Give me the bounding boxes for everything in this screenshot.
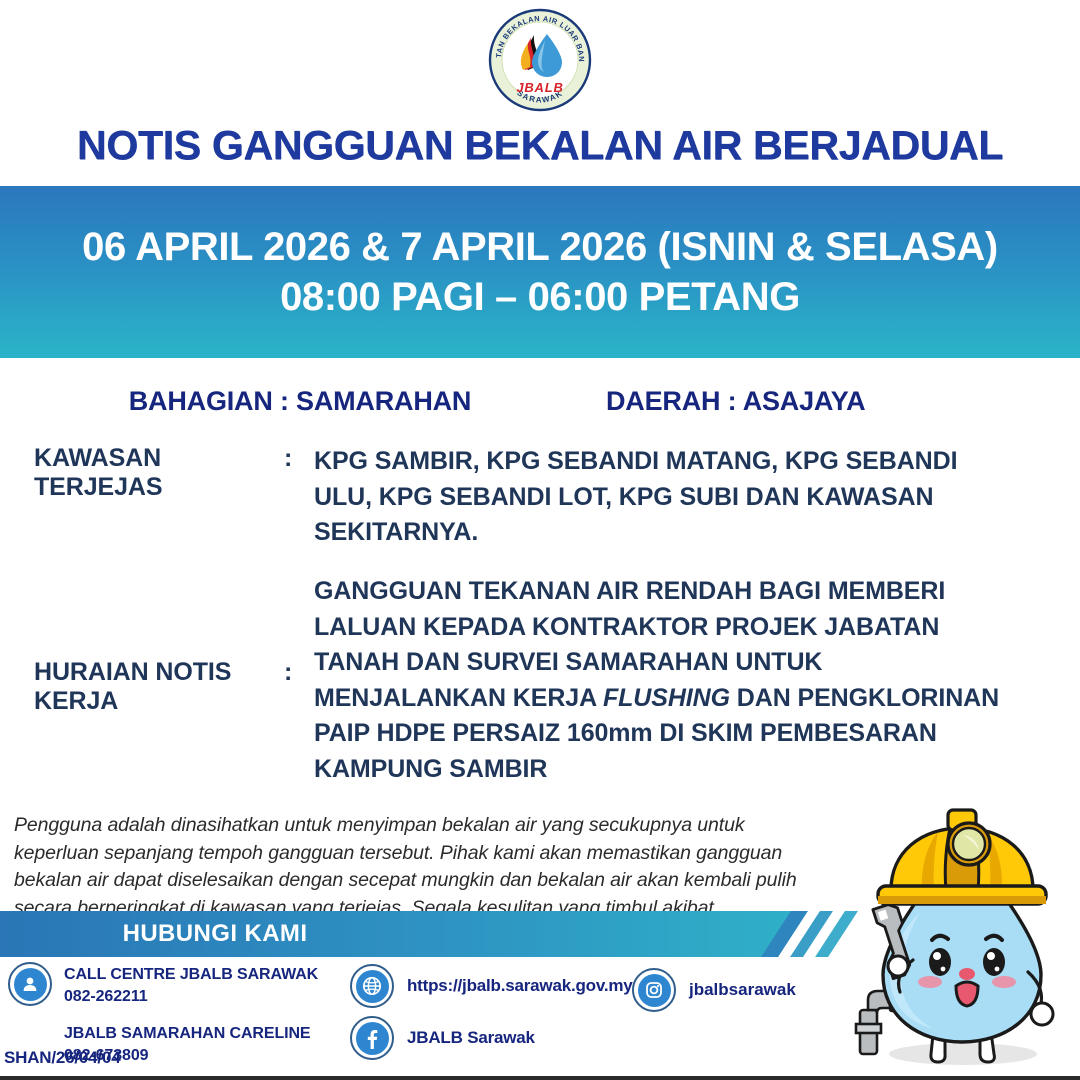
affected-area-value: KPG SAMBIR, KPG SEBANDI MATANG, KPG SEBA… [314,444,1014,551]
website-url[interactable]: https://jbalb.sarawak.gov.my/ [407,976,637,996]
contact-bar-title: HUBUNGI KAMI [123,920,678,948]
mascot-illustration [838,792,1080,1078]
date-time-banner: 06 APRIL 2026 & 7 APRIL 2026 (ISNIN & SE… [0,186,1080,358]
page-title: NOTIS GANGGUAN BEKALAN AIR BERJADUAL [0,122,1080,169]
jbalb-logo-icon: JABATAN BEKALAN AIR LUAR BANDAR SARAWAK … [488,8,592,112]
person-icon [8,962,52,1006]
contact-bar: HUBUNGI KAMI [0,911,800,957]
hard-hat-icon [878,810,1046,904]
banner-date-line: 06 APRIL 2026 & 7 APRIL 2026 (ISNIN & SE… [82,222,998,272]
website-row[interactable]: https://jbalb.sarawak.gov.my/ [350,964,637,1008]
logo-container: JABATAN BEKALAN AIR LUAR BANDAR SARAWAK … [0,8,1080,118]
facebook-icon[interactable] [350,1016,394,1060]
work-description-label: HURAIAN NOTIS KERJA [24,574,284,716]
work-description-value: GANGGUAN TEKANAN AIR RENDAH BAGI MEMBERI… [314,574,1014,787]
instagram-handle[interactable]: jbalbsarawak [689,980,796,1000]
globe-icon[interactable] [350,964,394,1008]
facebook-row[interactable]: JBALB Sarawak [350,1016,637,1060]
work-description-row: HURAIAN NOTIS KERJA : GANGGUAN TEKANAN A… [24,574,1014,787]
affected-area-colon: : [284,444,314,473]
division-label: BAHAGIAN : SAMARAHAN [0,386,600,417]
work-description-italic: FLUSHING [603,684,730,712]
instagram-icon[interactable] [632,968,676,1012]
work-description-colon: : [284,574,314,687]
facebook-name[interactable]: JBALB Sarawak [407,1028,535,1048]
svg-text:JBALB: JBALB [516,80,563,95]
affected-area-row: KAWASAN TERJEJAS : KPG SAMBIR, KPG SEBAN… [24,444,1014,551]
division-district-row: BAHAGIAN : SAMARAHAN DAERAH : ASAJAYA [0,386,1080,417]
call-centre-number[interactable]: 082-262211 [64,986,318,1008]
globe-glyph [361,975,383,997]
affected-area-label: KAWASAN TERJEJAS [24,444,284,502]
district-label: DAERAH : ASAJAYA [600,386,1080,417]
web-social-block: https://jbalb.sarawak.gov.my/ JBALB Sara… [350,964,637,1060]
water-droplet-mascot [838,792,1080,1078]
instagram-glyph [643,979,665,1001]
careline-label: JBALB SAMARAHAN CARELINE [64,1023,318,1045]
banner-time-line: 08:00 PAGI – 06:00 PETANG [280,272,800,322]
reference-code: SHAN/26/04/04 [4,1048,120,1068]
notice-poster: JABATAN BEKALAN AIR LUAR BANDAR SARAWAK … [0,0,1080,1080]
call-centre-label: CALL CENTRE JBALB SARAWAK [64,964,318,986]
facebook-glyph [361,1027,383,1049]
spacer [64,1007,318,1023]
instagram-row[interactable]: jbalbsarawak [632,968,796,1012]
person-glyph [20,974,40,994]
